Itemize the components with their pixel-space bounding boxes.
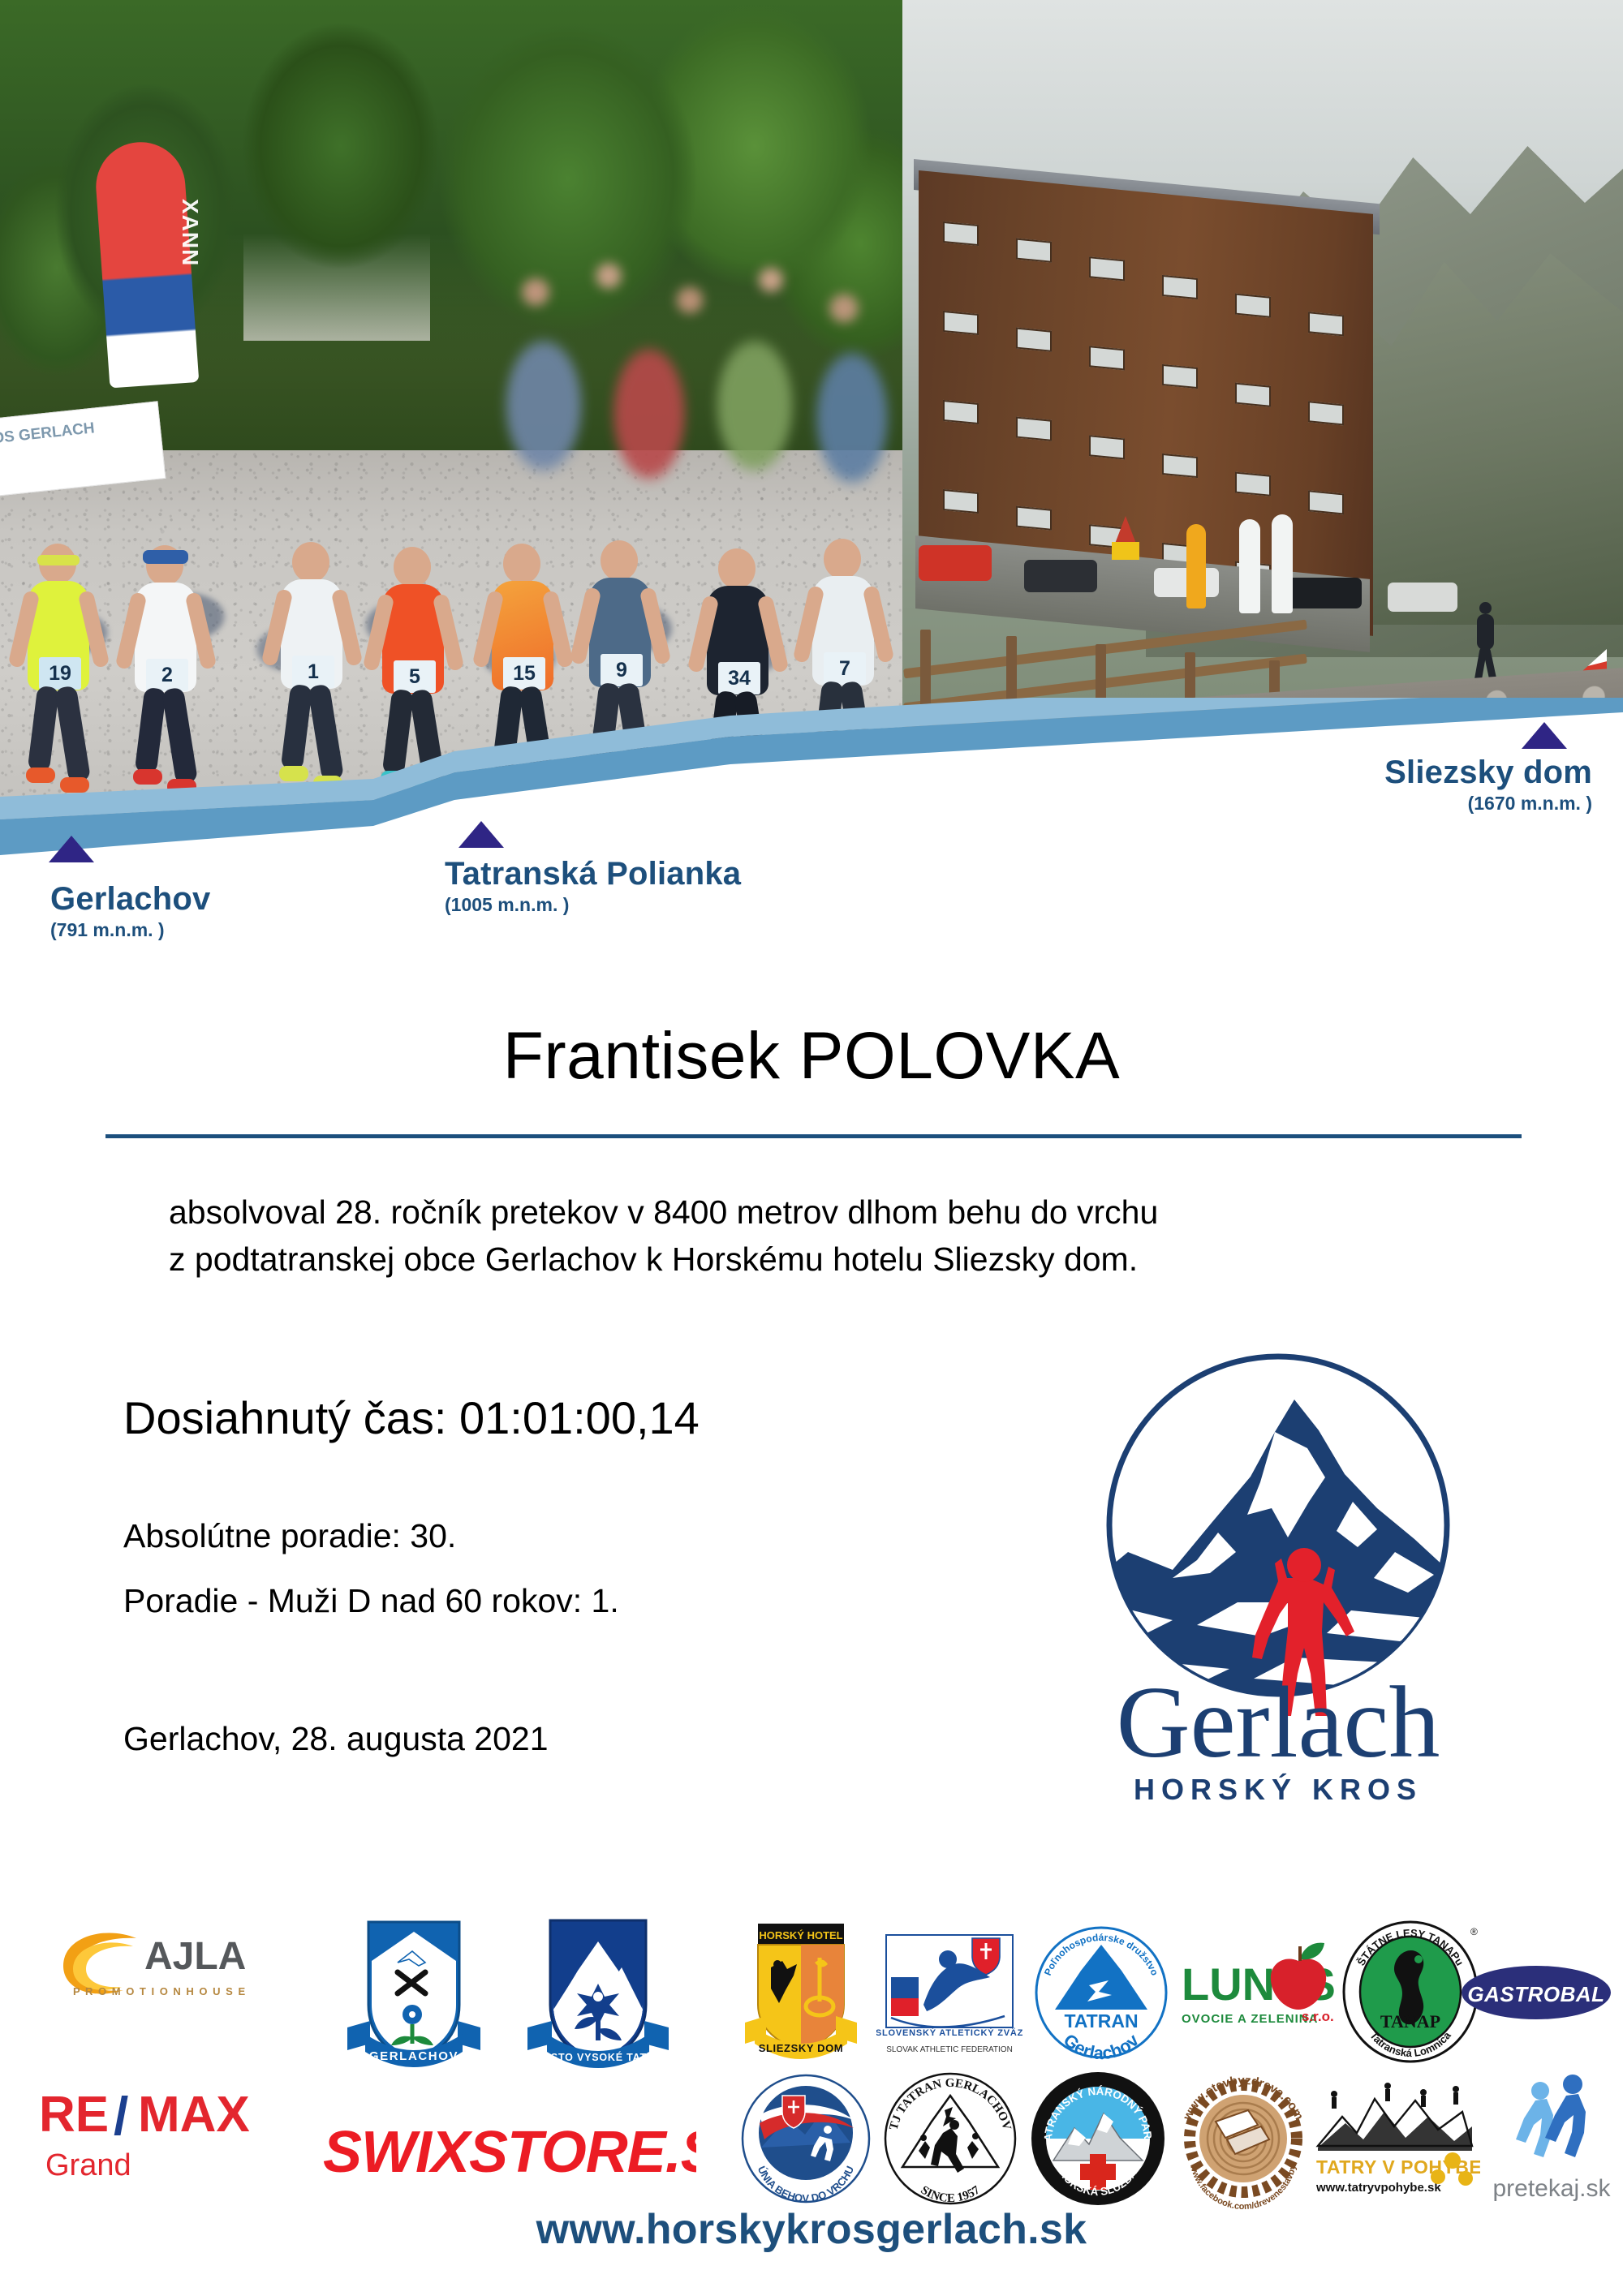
sponsor-strip: AJLA P R O M O T I O N H O U S E RE / MA…	[0, 1911, 1623, 2235]
svg-text:TATRAN: TATRAN	[1064, 2010, 1138, 2032]
event-website[interactable]: www.horskykrosgerlach.sk	[0, 2205, 1623, 2254]
absolute-rank: Absolútne poradie: 30.	[123, 1517, 456, 1555]
sponsor-logo-tj-tatran-gerlachov: TJ TATRAN GERLACHOV SINCE 1957	[883, 2071, 1018, 2206]
sponsor-logo-tatran-gerlachov: TATRAN Poľnohospodárske družstvo Gerlach…	[1032, 1924, 1170, 2062]
profile-point-altitude: (1670 m.n.m. )	[1357, 794, 1592, 813]
profile-point-altitude: (1005 m.n.m. )	[445, 896, 741, 914]
svg-text:s.r.o.: s.r.o.	[1302, 2009, 1334, 2024]
background-crowd	[487, 243, 902, 511]
sponsor-name: pretekaj.sk	[1492, 2175, 1611, 2202]
sponsor-tagline: www.tatryvpohybe.sk	[1315, 2181, 1441, 2195]
sponsor-name: GASTROBAL	[1467, 1982, 1604, 2006]
horizontal-divider	[105, 1134, 1522, 1138]
svg-text:HORSKÝ HOTEL: HORSKÝ HOTEL	[759, 1929, 842, 1941]
sponsor-logo-gastrobal: GASTROBAL	[1461, 1963, 1612, 2023]
sponsor-logo-saz: SLOVENSKÝ ATLETICKÝ ZVÄZ SLOVAK ATHLETIC…	[876, 1927, 1022, 2061]
header-photo-band: XANN OS GERLACH 19 2	[0, 0, 1623, 819]
vehicle-red-van	[919, 545, 992, 581]
profile-point-name: Tatranská Polianka	[445, 858, 741, 890]
race-description-line1: absolvoval 28. ročník pretekov v 8400 me…	[169, 1189, 1483, 1236]
sponsor-logo-remax: RE / MAX Grand	[39, 2073, 250, 2186]
photo-sliezsky-dom	[902, 0, 1623, 819]
sponsor-logo-ajla: AJLA P R O M O T I O N H O U S E	[49, 1919, 276, 2008]
sponsor-name: MESTO VYSOKÉ TATRY	[534, 2051, 661, 2063]
place-and-date: Gerlachov, 28. augusta 2021	[123, 1720, 549, 1758]
sponsor-crest-gerlachov: GERLACHOV	[341, 1915, 487, 2070]
banner-flag-orange	[1186, 524, 1206, 608]
sponsor-tagline: Grand	[45, 2148, 131, 2182]
profile-point-altitude: (791 m.n.m. )	[50, 921, 210, 939]
marker-triangle-gerlachov	[49, 836, 94, 862]
sponsor-logo-swixstore: SWIXSTORE.SK	[323, 2105, 696, 2195]
profile-point-name: Gerlachov	[50, 883, 210, 915]
profile-point-sliezsky-dom: Sliezsky dom (1670 m.n.m. )	[1357, 756, 1592, 813]
certificate-page: XANN OS GERLACH 19 2	[0, 0, 1623, 2296]
vehicle-silver	[1388, 583, 1457, 612]
sponsor-crest-sliezsky-dom: HORSKÝ HOTEL SLIEZSKY DOM	[740, 1919, 862, 2065]
athlete-name: Frantisek POLOVKA	[0, 1018, 1623, 1094]
banner-flag	[1239, 519, 1260, 613]
gerlach-logo-subtitle: HORSKÝ KROS	[1134, 1773, 1423, 1806]
sponsor-name: AJLA	[144, 1935, 246, 1978]
sponsor-name: SWIXSTORE.SK	[323, 2120, 696, 2185]
gerlach-event-logo: Gerlach HORSKÝ KROS	[1051, 1335, 1505, 1817]
marker-triangle-tatranska-polianka	[458, 821, 504, 848]
profile-point-name: Sliezsky dom	[1357, 756, 1592, 789]
sponsor-logo-pretekaj: pretekaj.sk	[1487, 2071, 1617, 2208]
trail-sign-plate	[1112, 542, 1139, 560]
svg-text:SLIEZSKY DOM: SLIEZSKY DOM	[759, 2042, 843, 2054]
svg-text:MAX: MAX	[138, 2087, 250, 2143]
sponsor-logo-stavbyzdreva: www.stavbyzdreva.com www.facebook.com/dr…	[1173, 2068, 1313, 2209]
svg-text:TANAP: TANAP	[1380, 2011, 1440, 2032]
profile-point-tatranska-polianka: Tatranská Polianka (1005 m.n.m. )	[445, 858, 741, 914]
svg-text:RE: RE	[39, 2087, 109, 2143]
sponsor-logo-horska-sluzba: TATRANSKÝ NÁRODNÝ PARK HORSKÁ SLUŽBA	[1029, 2070, 1167, 2208]
sponsor-logo-unia-behov: ÚNIA BEHOV DO VRCHU	[740, 2073, 872, 2204]
race-description-line2: z podtatranskej obce Gerlachov k Horském…	[169, 1236, 1483, 1283]
vehicle-dark	[1024, 560, 1097, 592]
svg-text:/: /	[114, 2086, 128, 2146]
race-description: absolvoval 28. ročník pretekov v 8400 me…	[169, 1189, 1483, 1283]
sponsor-tagline: SLOVAK ATHLETIC FEDERATION	[886, 2045, 1013, 2054]
banner-flag	[1272, 514, 1293, 613]
feather-flag-text: XANN	[89, 199, 203, 264]
gerlach-logo-title: Gerlach	[1117, 1666, 1440, 1779]
photo-race-start: XANN OS GERLACH 19 2	[0, 0, 902, 819]
marker-triangle-sliezsky-dom	[1522, 722, 1567, 749]
sponsor-logo-tatry-v-pohybe: TATRY V POHYBE www.tatryvpohybe.sk	[1310, 2076, 1480, 2202]
result-time: Dosiahnutý čas: 01:01:00,14	[123, 1391, 700, 1444]
sponsor-tagline: P R O M O T I O N H O U S E	[73, 1985, 247, 1997]
category-rank: Poradie - Muži D nad 60 rokov: 1.	[123, 1582, 619, 1620]
sponsor-crest-vysoke-tatry: MESTO VYSOKÉ TATRY	[521, 1914, 675, 2072]
profile-point-gerlachov: Gerlachov (791 m.n.m. )	[50, 883, 210, 939]
svg-text:®: ®	[1470, 1926, 1478, 1937]
sponsor-tagline: OVOCIE A ZELENINA	[1182, 2012, 1318, 2026]
sponsor-logo-lunys: LUNYS OVOCIE A ZELENINA s.r.o.	[1178, 1933, 1341, 2047]
sponsor-name: SLOVENSKÝ ATLETICKÝ ZVÄZ	[876, 2027, 1022, 2038]
sponsor-name: GERLACHOV	[369, 2049, 458, 2063]
